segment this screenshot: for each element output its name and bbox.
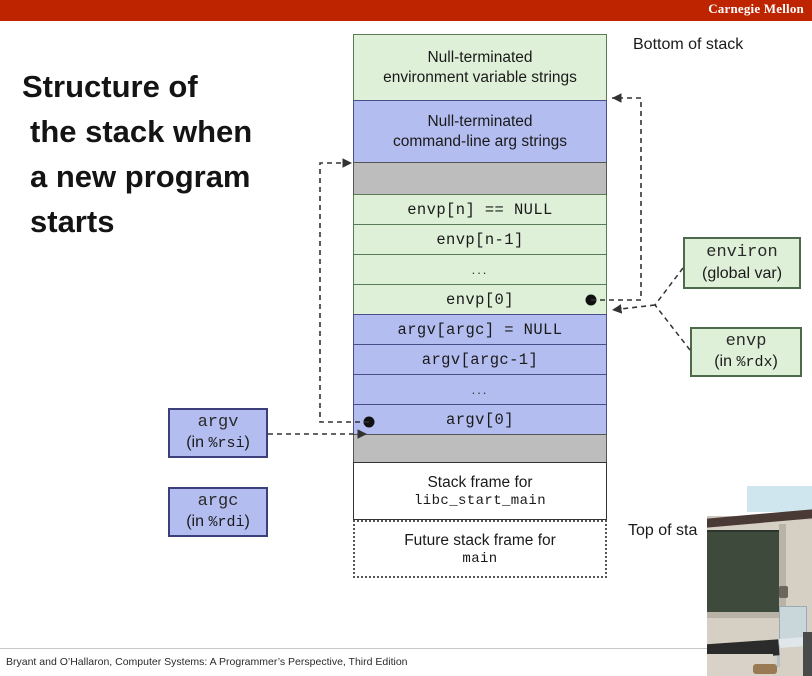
callout-detail-pre: (in	[714, 353, 736, 370]
callout-detail: (in %rsi)	[186, 433, 250, 453]
callout-name: argv	[198, 413, 239, 433]
callout-detail-pre: (in	[186, 513, 208, 530]
callout-name: environ	[706, 243, 777, 263]
brand-label: Carnegie Mellon	[708, 1, 804, 17]
footer-attribution: Bryant and O’Hallaron, Computer Systems:…	[6, 656, 408, 668]
stack-row-main-frame: Future stack frame for main	[353, 520, 607, 578]
callout-detail: (global var)	[702, 264, 782, 283]
stack-row-argv-argc-1: argv[argc-1]	[353, 344, 607, 374]
row-text: envp[n] == NULL	[407, 201, 553, 219]
stack-row-argv-ellipsis: ...	[353, 374, 607, 404]
callout-detail-text: (global var)	[702, 265, 782, 282]
callout-environ: environ (global var)	[683, 237, 801, 289]
title-line-3: a new program	[22, 155, 342, 200]
title-line-2: the stack when	[22, 110, 342, 155]
overlay-wall-outlet	[779, 586, 788, 598]
register-name: %rsi	[208, 435, 244, 452]
arrow-environ-branch	[655, 268, 683, 305]
header-rule	[0, 18, 812, 21]
page-title: Structure of the stack when a new progra…	[22, 65, 342, 245]
video-overlay[interactable]	[707, 482, 812, 676]
overlay-chalkboard	[707, 530, 781, 616]
callout-argc: argc (in %rdi)	[168, 487, 268, 537]
row-text-line2: libc_start_main	[414, 493, 546, 509]
row-text: ...	[472, 382, 489, 397]
stack-row-spacer-top	[353, 162, 607, 194]
title-line-4: starts	[22, 200, 342, 245]
arrow-to-envp0-row	[612, 305, 655, 310]
stack-row-envp-null: envp[n] == NULL	[353, 194, 607, 224]
row-text-line2: command-line arg strings	[393, 132, 567, 151]
callout-detail-post: )	[244, 513, 249, 530]
row-text-line1: Future stack frame for	[404, 531, 556, 550]
header-bar	[0, 0, 812, 18]
overlay-chalk-tray	[707, 612, 779, 618]
label-top-of-stack: Top of sta	[628, 522, 697, 540]
overlay-dark-object	[803, 632, 812, 676]
register-name: %rdx	[736, 354, 772, 371]
callout-detail: (in %rdi)	[186, 512, 250, 532]
callout-argv: argv (in %rsi)	[168, 408, 268, 458]
callout-envp: envp (in %rdx)	[690, 327, 802, 377]
register-name: %rdi	[208, 514, 244, 531]
arrow-envp-branch	[655, 305, 690, 350]
callout-detail-post: )	[244, 434, 249, 451]
callout-name: envp	[726, 332, 767, 352]
row-text-line1: Null-terminated	[427, 48, 532, 67]
stack-row-envp-0: envp[0]	[353, 284, 607, 314]
stack-row-envp-ellipsis: ...	[353, 254, 607, 284]
title-line-1: Structure of	[22, 65, 342, 110]
row-text-line2: environment variable strings	[383, 68, 577, 87]
overlay-stool	[753, 664, 777, 674]
label-bottom-of-stack: Bottom of stack	[633, 36, 743, 54]
stack-diagram: Null-terminated environment variable str…	[353, 34, 607, 578]
footer-divider	[0, 648, 812, 649]
stack-row-libc-frame: Stack frame for libc_start_main	[353, 462, 607, 520]
stack-row-envp-n-1: envp[n-1]	[353, 224, 607, 254]
row-text: argv[argc-1]	[422, 351, 538, 369]
row-text: ...	[472, 262, 489, 277]
overlay-projector-screen	[747, 486, 812, 512]
row-text: envp[n-1]	[436, 231, 523, 249]
stack-row-env-strings: Null-terminated environment variable str…	[353, 34, 607, 100]
callout-name: argc	[198, 492, 239, 512]
row-text-line1: Null-terminated	[427, 112, 532, 131]
row-text: argv[argc] = NULL	[398, 321, 563, 339]
callout-detail-pre: (in	[186, 434, 208, 451]
row-text-line1: Stack frame for	[427, 473, 532, 492]
callout-detail: (in %rdx)	[714, 352, 778, 372]
row-text-line2: main	[462, 551, 497, 567]
stack-row-spacer-bottom	[353, 434, 607, 462]
stack-row-argv-null: argv[argc] = NULL	[353, 314, 607, 344]
callout-detail-post: )	[772, 353, 777, 370]
row-text: envp[0]	[446, 291, 514, 309]
row-text: argv[0]	[446, 411, 514, 429]
stack-row-arg-strings: Null-terminated command-line arg strings	[353, 100, 607, 162]
stack-row-argv-0: argv[0]	[353, 404, 607, 434]
